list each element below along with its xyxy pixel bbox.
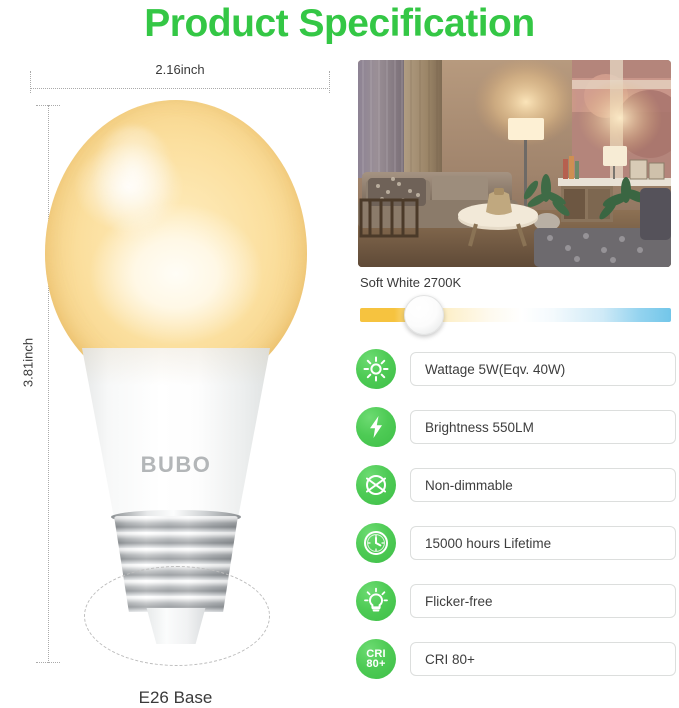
light-bulb-illustration: BUBO E26 Base [38,100,313,670]
width-dimension-label: 2.16inch [30,62,330,77]
specs-panel: Soft White 2700K Wattage 5W(Eqv. 40W) Br… [350,48,679,676]
clock-icon [356,523,396,563]
bulb-glass-highlight [90,126,176,244]
bulb-diagram-panel: 2.16inch 3.81inch BUBO E26 Base [0,48,350,676]
color-temperature-slider-knob[interactable] [404,295,444,335]
feature-row-wattage: Wattage 5W(Eqv. 40W) [356,348,676,390]
width-dimension-tick-left [30,71,31,93]
feature-label-wattage: Wattage 5W(Eqv. 40W) [410,352,676,386]
feature-row-flicker: Flicker-free [356,580,676,622]
living-room-photo [358,60,671,267]
feature-row-lifetime: 15000 hours Lifetime [356,522,676,564]
bulb-housing-shadow [82,348,270,518]
feature-label-dimmable: Non-dimmable [410,468,676,502]
no-dimming-icon [356,465,396,505]
width-dimension-line [30,88,330,89]
lightbulb-icon [356,581,396,621]
cri-badge-icon: CRI 80+ [356,639,396,679]
lightning-bolt-icon [356,407,396,447]
cri-badge-line-2: 80+ [366,659,386,670]
width-dimension: 2.16inch [30,62,330,96]
height-dimension-label: 3.81inch [21,303,36,423]
feature-row-brightness: Brightness 550LM [356,406,676,448]
feature-label-brightness: Brightness 550LM [410,410,676,444]
sun-icon [356,349,396,389]
feature-label-lifetime: 15000 hours Lifetime [410,526,676,560]
bulb-glass-rim [45,100,307,390]
bulb-brand-label: BUBO [82,452,270,478]
feature-label-flicker: Flicker-free [410,584,676,618]
page-title: Product Specification [0,0,679,48]
color-temperature-label: Soft White 2700K [360,275,461,290]
feature-row-cri: CRI 80+ CRI 80+ [356,638,676,680]
base-type-label: E26 Base [38,688,313,708]
base-highlight-ellipse [84,566,270,666]
feature-row-dimmable: Non-dimmable [356,464,676,506]
width-dimension-tick-right [329,71,330,93]
feature-label-cri: CRI 80+ [410,642,676,676]
